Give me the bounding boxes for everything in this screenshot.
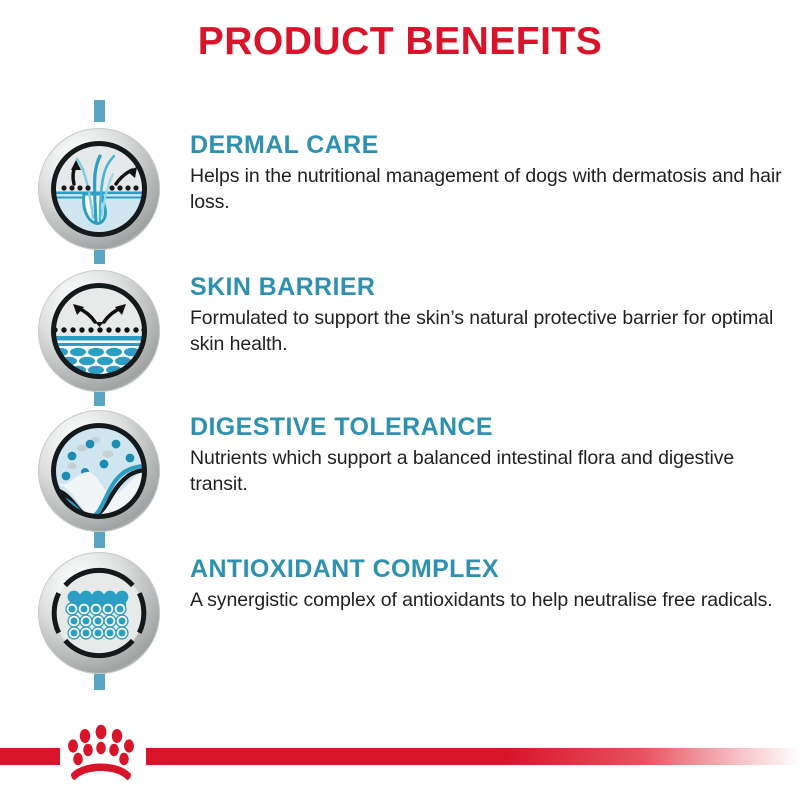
benefit-heading: ANTIOXIDANT COMPLEX <box>190 556 790 583</box>
benefit-heading: SKIN BARRIER <box>190 274 790 301</box>
benefit-text-block: DERMAL CARE Helps in the nutritional man… <box>190 132 790 216</box>
benefit-text-block: ANTIOXIDANT COMPLEX A synergistic comple… <box>190 556 790 614</box>
benefit-description: Formulated to support the skin’s natural… <box>190 306 790 358</box>
antioxidant-molecule-grid-icon <box>38 552 160 674</box>
skin-barrier-layers-icon <box>38 270 160 392</box>
footer-bar-left <box>0 748 60 765</box>
benefit-text-block: DIGESTIVE TOLERANCE Nutrients which supp… <box>190 414 790 498</box>
hair-follicle-skin-icon <box>38 128 160 250</box>
benefit-text-block: SKIN BARRIER Formulated to support the s… <box>190 274 790 358</box>
footer <box>0 700 800 800</box>
royal-canin-crown-logo <box>55 722 147 788</box>
product-benefits-page: PRODUCT BENEFITS <box>0 0 800 800</box>
benefit-heading: DERMAL CARE <box>190 132 790 159</box>
footer-bar-right <box>146 748 800 765</box>
benefit-item: DERMAL CARE Helps in the nutritional man… <box>0 128 800 270</box>
benefit-item: SKIN BARRIER Formulated to support the s… <box>0 270 800 412</box>
benefit-description: Helps in the nutritional management of d… <box>190 164 790 216</box>
intestinal-flora-wave-icon <box>38 410 160 532</box>
benefit-description: Nutrients which support a balanced intes… <box>190 446 790 498</box>
benefit-heading: DIGESTIVE TOLERANCE <box>190 414 790 441</box>
benefit-item: ANTIOXIDANT COMPLEX A synergistic comple… <box>0 552 800 694</box>
benefit-item: DIGESTIVE TOLERANCE Nutrients which supp… <box>0 410 800 552</box>
benefit-description: A synergistic complex of antioxidants to… <box>190 588 790 614</box>
benefits-list: DERMAL CARE Helps in the nutritional man… <box>0 0 800 800</box>
